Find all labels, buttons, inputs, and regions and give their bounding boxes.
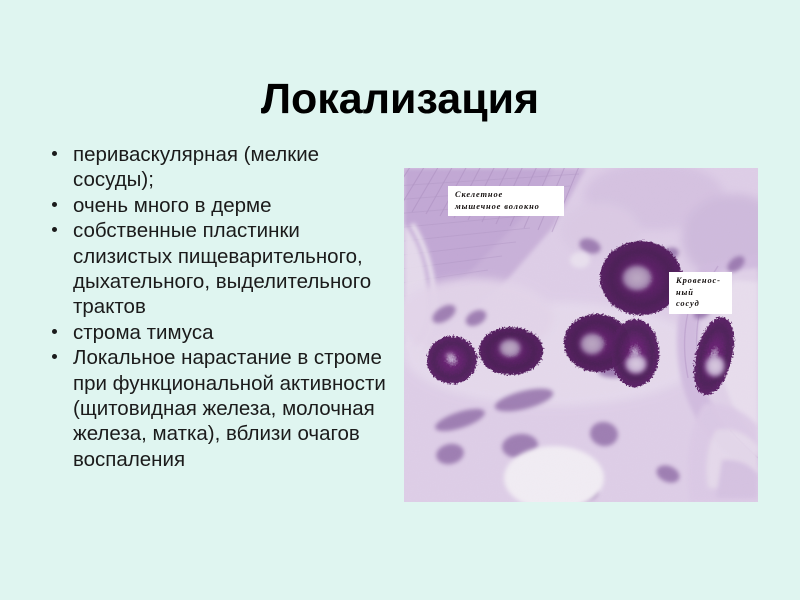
list-item: очень много в дерме: [48, 193, 393, 218]
list-item-text: Локальное нарастание в строме при функци…: [73, 346, 386, 471]
list-item-text: строма тимуса: [73, 321, 213, 344]
page-title: Локализация: [0, 77, 800, 122]
micrograph-image: [404, 168, 758, 502]
list-item: периваскулярная (мелкие сосуды);: [48, 142, 393, 193]
bullet-dot-icon: [52, 354, 57, 359]
slide-canvas: Локализация периваскулярная (мелкие сосу…: [0, 0, 800, 600]
bullet-list: периваскулярная (мелкие сосуды); очень м…: [48, 142, 393, 472]
list-item-text: очень много в дерме: [73, 194, 272, 217]
list-item: собственные пластинки слизистых пищевари…: [48, 218, 393, 320]
list-item: Локальное нарастание в строме при функци…: [48, 345, 393, 472]
micrograph-label-skeletal-muscle-fiber: Скелетное мышечное волокно: [448, 186, 564, 216]
list-item: строма тимуса: [48, 320, 393, 345]
bullet-dot-icon: [52, 329, 57, 334]
bullet-dot-icon: [52, 227, 57, 232]
bullet-dot-icon: [52, 202, 57, 207]
histology-micrograph: Скелетное мышечное волокно Кровенос- ный…: [404, 168, 758, 502]
list-item-text: периваскулярная (мелкие сосуды);: [73, 143, 319, 191]
list-item-text: собственные пластинки слизистых пищевари…: [73, 219, 371, 318]
bullet-dot-icon: [52, 151, 57, 156]
micrograph-label-blood-vessel: Кровенос- ный сосуд: [669, 272, 732, 314]
